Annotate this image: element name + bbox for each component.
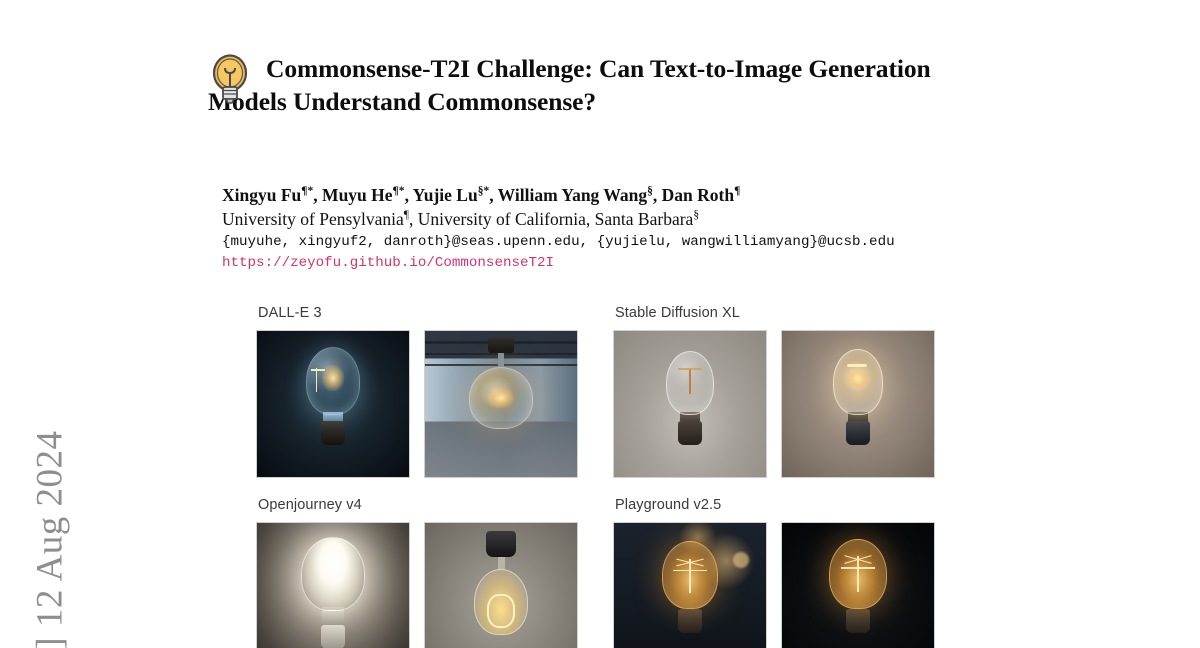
generated-image[interactable] [256,522,410,648]
affiliation-list: University of Pensylvania¶, University o… [222,207,1002,232]
generated-image[interactable] [424,330,578,478]
model-label: Stable Diffusion XL [615,305,935,321]
generated-image[interactable] [781,330,935,478]
model-group-dalle3: DALL-E 3 [256,305,578,478]
author-list: Xingyu Fu¶*, Muyu He¶*, Yujie Lu§*, Will… [222,183,1002,207]
page-title: Commonsense-T2I Challenge: Can Text-to-I… [208,52,996,118]
model-label: DALL-E 3 [258,305,578,321]
title-block: Commonsense-T2I Challenge: Can Text-to-I… [208,52,996,118]
arxiv-stamp: [cs.CV] 12 Aug 2024 [0,0,90,648]
model-group-openjourney: Openjourney v4 [256,497,578,648]
model-label: Playground v2.5 [615,497,935,513]
author-emails: {muyuhe, xingyuf2, danroth}@seas.upenn.e… [222,232,1002,253]
generated-image[interactable] [256,330,410,478]
generated-image[interactable] [781,522,935,648]
model-group-sdxl: Stable Diffusion XL [613,305,935,478]
image-pair [613,522,935,648]
generated-image[interactable] [424,522,578,648]
image-pair [613,330,935,478]
model-label: Openjourney v4 [258,497,578,513]
author-block: Xingyu Fu¶*, Muyu He¶*, Yujie Lu§*, Will… [222,183,1002,274]
model-group-playground: Playground v2.5 [613,497,935,648]
lightbulb-icon [208,54,252,106]
paper-content: Commonsense-T2I Challenge: Can Text-to-I… [208,0,998,648]
project-url-link[interactable]: https://zeyofu.github.io/CommonsenseT2I [222,253,1002,274]
paper-page: [cs.CV] 12 Aug 2024 Commonsense-T2I Chal… [0,0,1200,648]
arxiv-stamp-text: [cs.CV] 12 Aug 2024 [29,197,72,648]
image-pair [256,330,578,478]
image-pair [256,522,578,648]
generated-image[interactable] [613,522,767,648]
generated-image[interactable] [613,330,767,478]
